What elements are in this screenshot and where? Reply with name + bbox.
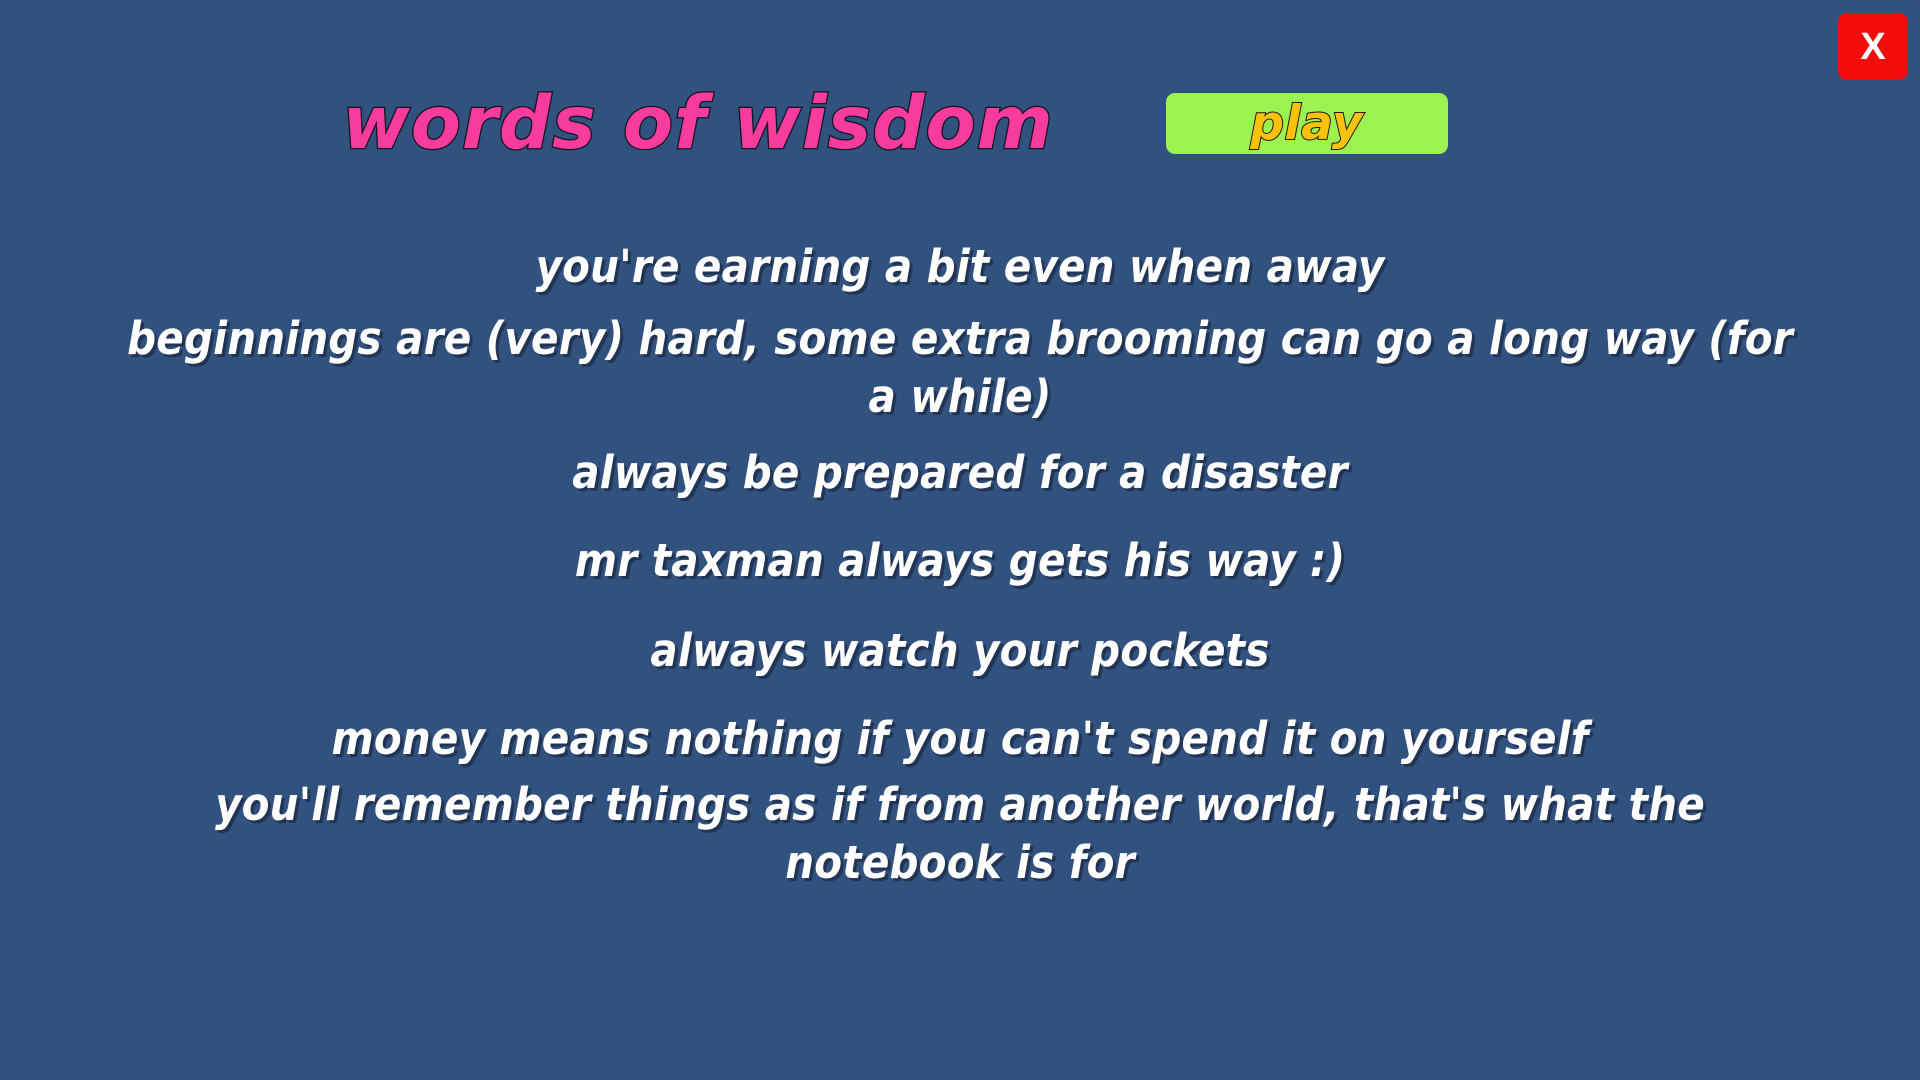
header: words of wisdom play xyxy=(0,78,1790,168)
close-button[interactable]: X xyxy=(1838,13,1908,80)
page-title: words of wisdom xyxy=(342,87,1053,160)
wisdom-list: you're earning a bit even when away begi… xyxy=(108,238,1812,892)
wisdom-line: you're earning a bit even when away xyxy=(108,238,1812,296)
wisdom-line: always watch your pockets xyxy=(108,622,1812,680)
wisdom-line: you'll remember things as if from anothe… xyxy=(108,776,1812,892)
words-of-wisdom-screen: X words of wisdom play you're earning a … xyxy=(0,0,1920,1080)
wisdom-line: always be prepared for a disaster xyxy=(108,444,1812,502)
play-button[interactable]: play xyxy=(1166,93,1448,154)
wisdom-line: beginnings are (very) hard, some extra b… xyxy=(108,310,1812,426)
play-button-label: play xyxy=(1250,100,1363,147)
wisdom-line: money means nothing if you can't spend i… xyxy=(108,710,1812,768)
close-icon: X xyxy=(1860,28,1885,66)
wisdom-line: mr taxman always gets his way :) xyxy=(108,532,1812,590)
